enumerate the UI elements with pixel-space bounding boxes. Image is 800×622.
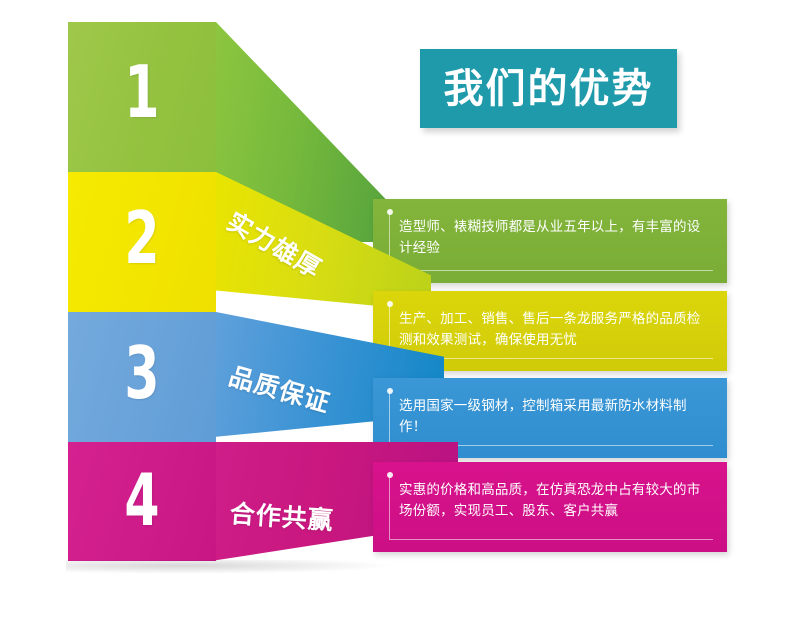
infographic-canvas: 我们的优势 专业的团队 1 造型师、裱糊技师都是从业五年以上，有丰富的设计经验 … xyxy=(0,0,800,622)
advantage-panel-4: 实惠的价格和高品质，在仿真恐龙中占有较大的市场份额，实现员工、股东、客户共赢 xyxy=(373,462,727,552)
advantage-number-block-4: 4 xyxy=(68,442,216,561)
advantage-row-4: 合作共赢 4 实惠的价格和高品质，在仿真恐龙中占有较大的市场份额，实现员工、股东… xyxy=(0,0,800,622)
advantage-description-4: 实惠的价格和高品质，在仿真恐龙中占有较大的市场份额，实现员工、股东、客户共赢 xyxy=(399,480,705,522)
ground-shadow xyxy=(66,560,396,574)
advantage-label-4: 合作共赢 xyxy=(229,494,335,537)
advantage-number-4: 4 xyxy=(84,464,199,536)
panel-dot-icon-4 xyxy=(387,472,393,478)
